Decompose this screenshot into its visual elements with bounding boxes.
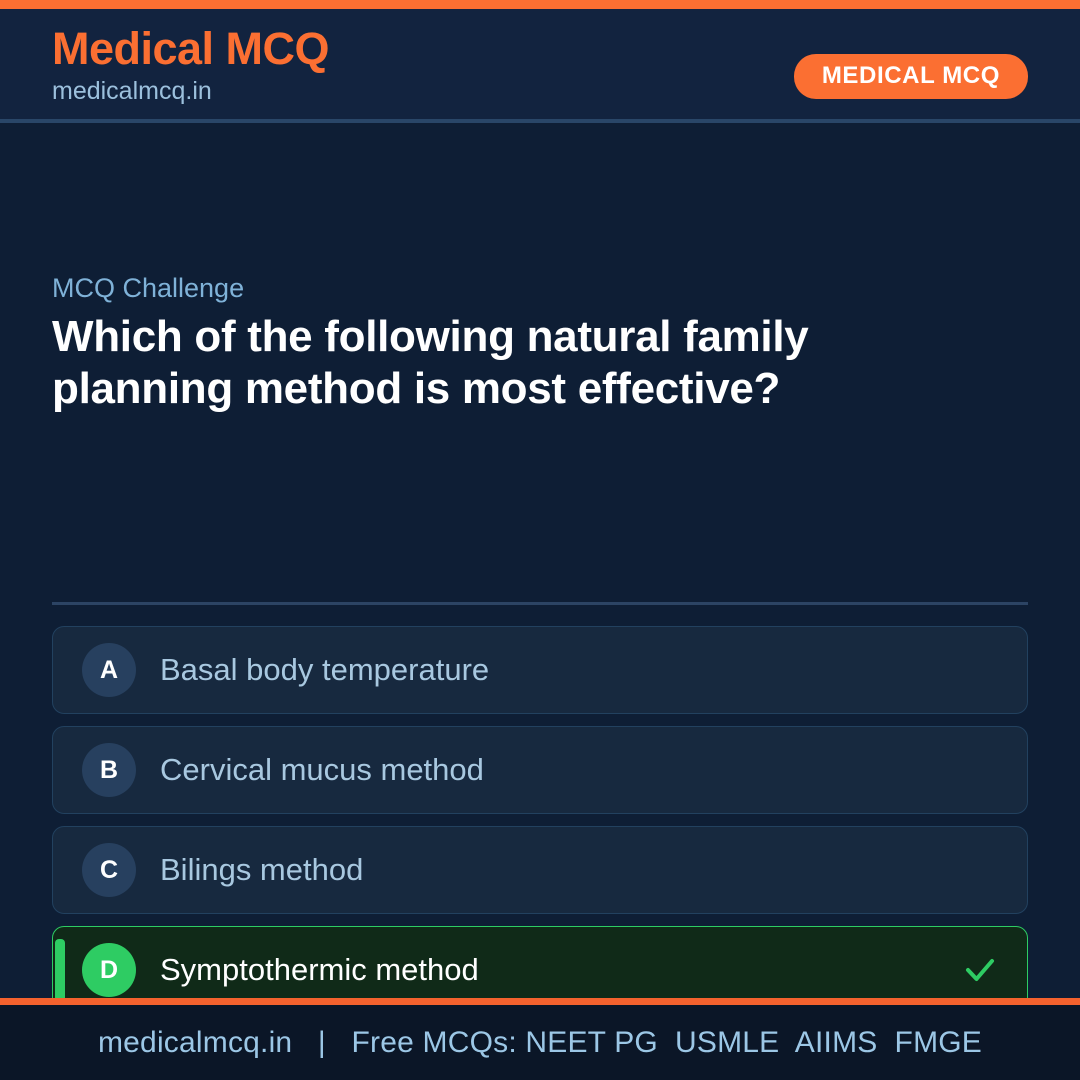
checkmark-icon (963, 953, 997, 987)
footer-accent-rule (0, 998, 1080, 1005)
brand-title: Medical MCQ (52, 22, 329, 76)
option-letter-a: A (82, 643, 136, 697)
question-kicker: MCQ Challenge (52, 271, 1028, 305)
option-row-b[interactable]: B Cervical mucus method (52, 726, 1028, 814)
option-text-c: Bilings method (160, 851, 363, 889)
footer-text: medicalmcq.in | Free MCQs: NEET PG USMLE… (98, 1026, 982, 1060)
page-header: Medical MCQ medicalmcq.in MEDICAL MCQ (0, 9, 1080, 119)
correct-accent-bar (55, 939, 65, 1003)
page-footer: medicalmcq.in | Free MCQs: NEET PG USMLE… (0, 1005, 1080, 1080)
question-text: Which of the following natural family pl… (52, 311, 982, 415)
top-accent-rule (0, 0, 1080, 9)
question-divider (52, 602, 1028, 605)
option-letter-b: B (82, 743, 136, 797)
brand-block: Medical MCQ medicalmcq.in (52, 22, 329, 107)
header-badge[interactable]: MEDICAL MCQ (794, 54, 1028, 99)
option-text-a: Basal body temperature (160, 651, 489, 689)
option-text-b: Cervical mucus method (160, 751, 484, 789)
option-row-c[interactable]: C Bilings method (52, 826, 1028, 914)
option-letter-d: D (82, 943, 136, 997)
main-content: MCQ Challenge Which of the following nat… (0, 123, 1080, 996)
options-list: A Basal body temperature B Cervical mucu… (52, 626, 1028, 1026)
brand-subtitle: medicalmcq.in (52, 75, 329, 107)
option-letter-c: C (82, 843, 136, 897)
option-row-a[interactable]: A Basal body temperature (52, 626, 1028, 714)
question-block: MCQ Challenge Which of the following nat… (52, 271, 1028, 415)
option-text-d: Symptothermic method (160, 951, 479, 989)
